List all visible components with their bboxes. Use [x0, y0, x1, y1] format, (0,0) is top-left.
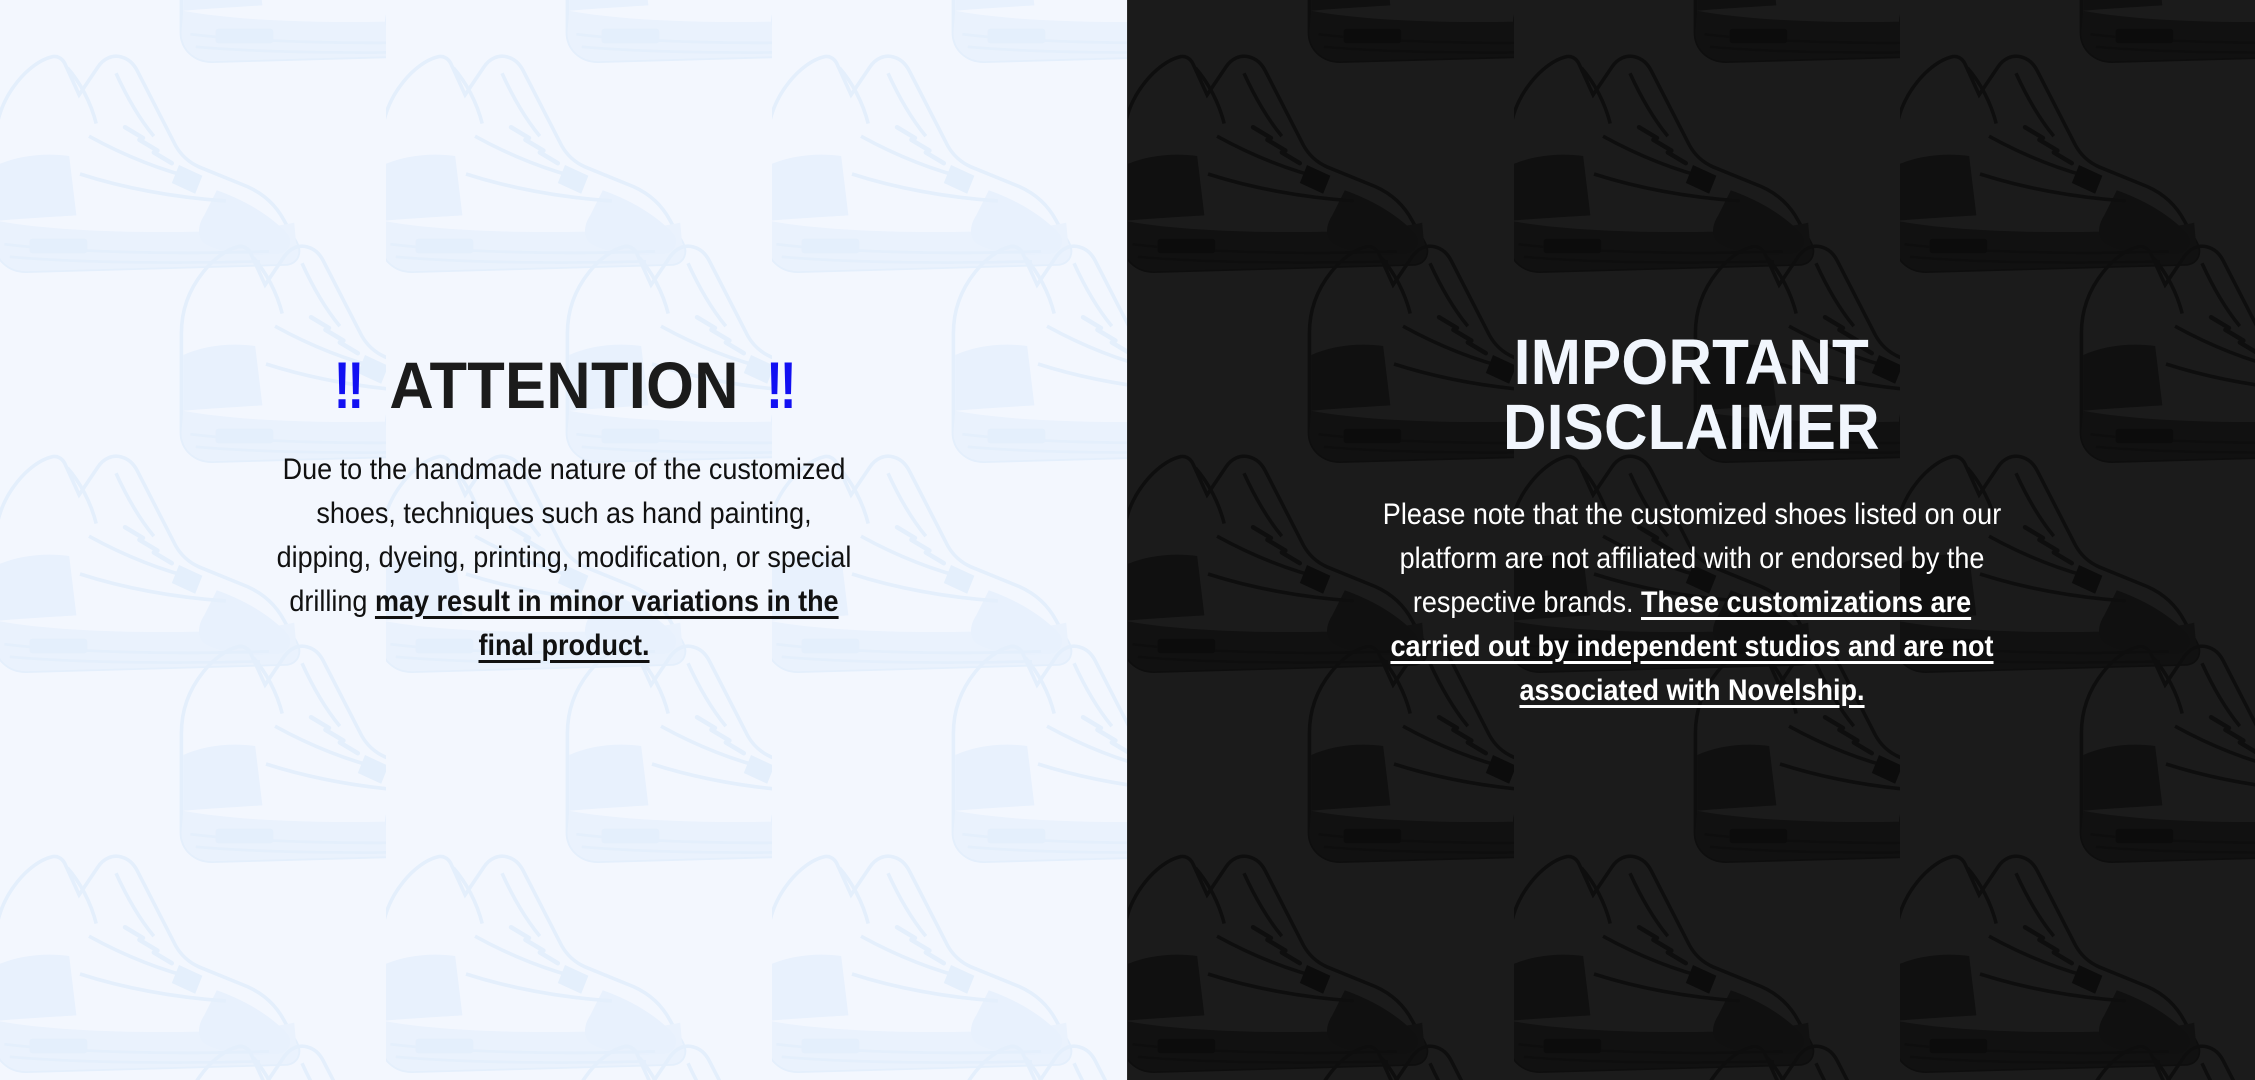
disclaimer-panel: IMPORTANT DISCLAIMER Please note that th…	[1128, 0, 2255, 1080]
attention-body: Due to the handmade nature of the custom…	[267, 448, 861, 668]
double-exclamation-icon-left: ‼	[334, 352, 362, 418]
attention-body-emphasis: may result in minor variations in the fi…	[375, 585, 839, 662]
panel-divider	[1127, 0, 1128, 1080]
disclaimer-body: Please note that the customized shoes li…	[1381, 493, 2002, 713]
attention-content: ‼ ATTENTION ‼ Due to the handmade nature…	[0, 0, 1128, 1080]
attention-panel: ‼ ATTENTION ‼ Due to the handmade nature…	[0, 0, 1128, 1080]
disclaimer-heading-line-2: DISCLAIMER	[1503, 395, 1880, 460]
attention-heading-text: ATTENTION	[389, 352, 738, 418]
attention-heading: ‼ ATTENTION ‼	[330, 352, 797, 418]
disclaimer-content: IMPORTANT DISCLAIMER Please note that th…	[1128, 0, 2255, 1080]
customization-notice-banner: ‼ ATTENTION ‼ Due to the handmade nature…	[0, 0, 2255, 1080]
disclaimer-heading-line-1: IMPORTANT	[1503, 330, 1880, 395]
double-exclamation-icon-right: ‼	[766, 352, 794, 418]
disclaimer-heading: IMPORTANT DISCLAIMER	[1503, 330, 1880, 461]
